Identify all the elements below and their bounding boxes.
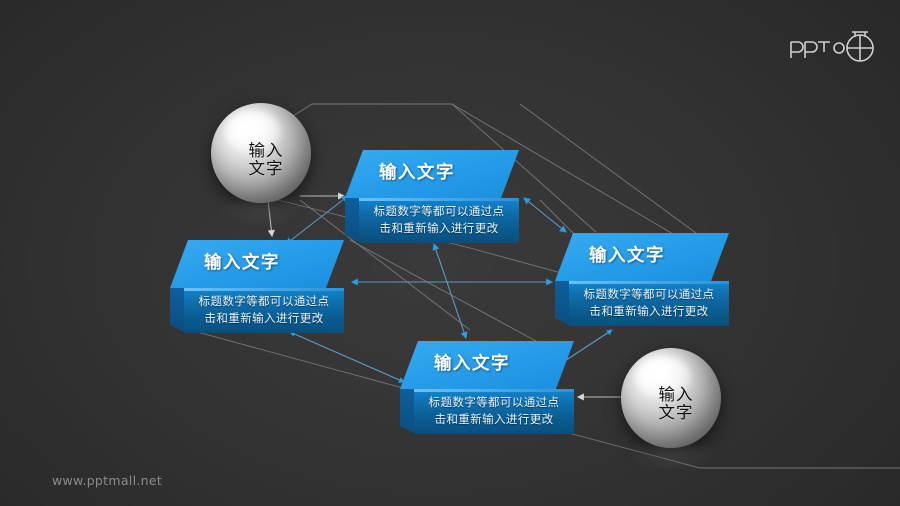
box-body-line2: 击和重新输入进行更改 — [359, 220, 519, 237]
box-body-line2: 击和重新输入进行更改 — [184, 310, 344, 327]
box-body: 标题数字等都可以通过点 击和重新输入进行更改 — [414, 394, 574, 427]
box-title: 输入文字 — [204, 249, 280, 274]
box-body: 标题数字等都可以通过点 击和重新输入进行更改 — [569, 286, 729, 319]
box-body: 标题数字等都可以通过点 击和重新输入进行更改 — [184, 293, 344, 326]
slide-canvas: 输入 文字 输入 文字 输入文字 标题数字等都可以通过点 击和重新输入进行更改 … — [0, 0, 900, 506]
box-node-bottom[interactable]: 输入文字 标题数字等都可以通过点 击和重新输入进行更改 — [400, 341, 574, 434]
box-node-top[interactable]: 输入文字 标题数字等都可以通过点 击和重新输入进行更改 — [345, 150, 519, 243]
box-body-line2: 击和重新输入进行更改 — [569, 303, 729, 320]
sphere-label-line2: 文字 — [249, 160, 284, 178]
arrow-boxTop-boxRight — [524, 198, 566, 232]
sphere-label-bottom-right: 输入 文字 — [659, 386, 694, 423]
sphere-label-line1: 输入 — [659, 386, 694, 404]
box-body-line1: 标题数字等都可以通过点 — [569, 286, 729, 303]
box-title: 输入文字 — [379, 159, 455, 184]
sphere-label-line1: 输入 — [249, 142, 284, 160]
box-body-line1: 标题数字等都可以通过点 — [414, 394, 574, 411]
box-node-right[interactable]: 输入文字 标题数字等都可以通过点 击和重新输入进行更改 — [555, 233, 729, 326]
box-body-line2: 击和重新输入进行更改 — [414, 411, 574, 428]
box-title: 输入文字 — [589, 242, 665, 267]
wire-g — [350, 240, 556, 352]
sphere-node-top-left[interactable]: 输入 文字 — [211, 103, 311, 203]
arrow-sphereA-to-boxLeft — [268, 200, 272, 236]
box-body: 标题数字等都可以通过点 击和重新输入进行更改 — [359, 203, 519, 236]
box-title: 输入文字 — [434, 350, 510, 375]
watermark-url: www.pptmall.net — [52, 473, 162, 488]
arrow-boxTop-boxBottom — [434, 244, 466, 338]
box-body-line1: 标题数字等都可以通过点 — [359, 203, 519, 220]
sphere-label-line2: 文字 — [659, 404, 694, 422]
sphere-node-bottom-right[interactable]: 输入 文字 — [621, 348, 721, 448]
box-node-left[interactable]: 输入文字 标题数字等都可以通过点 击和重新输入进行更改 — [170, 240, 344, 333]
sphere-label-top-left: 输入 文字 — [249, 142, 284, 179]
box-body-line1: 标题数字等都可以通过点 — [184, 293, 344, 310]
arrow-boxLeft-boxTop — [286, 196, 348, 244]
arrow-boxLeft-boxBottom — [290, 332, 404, 382]
